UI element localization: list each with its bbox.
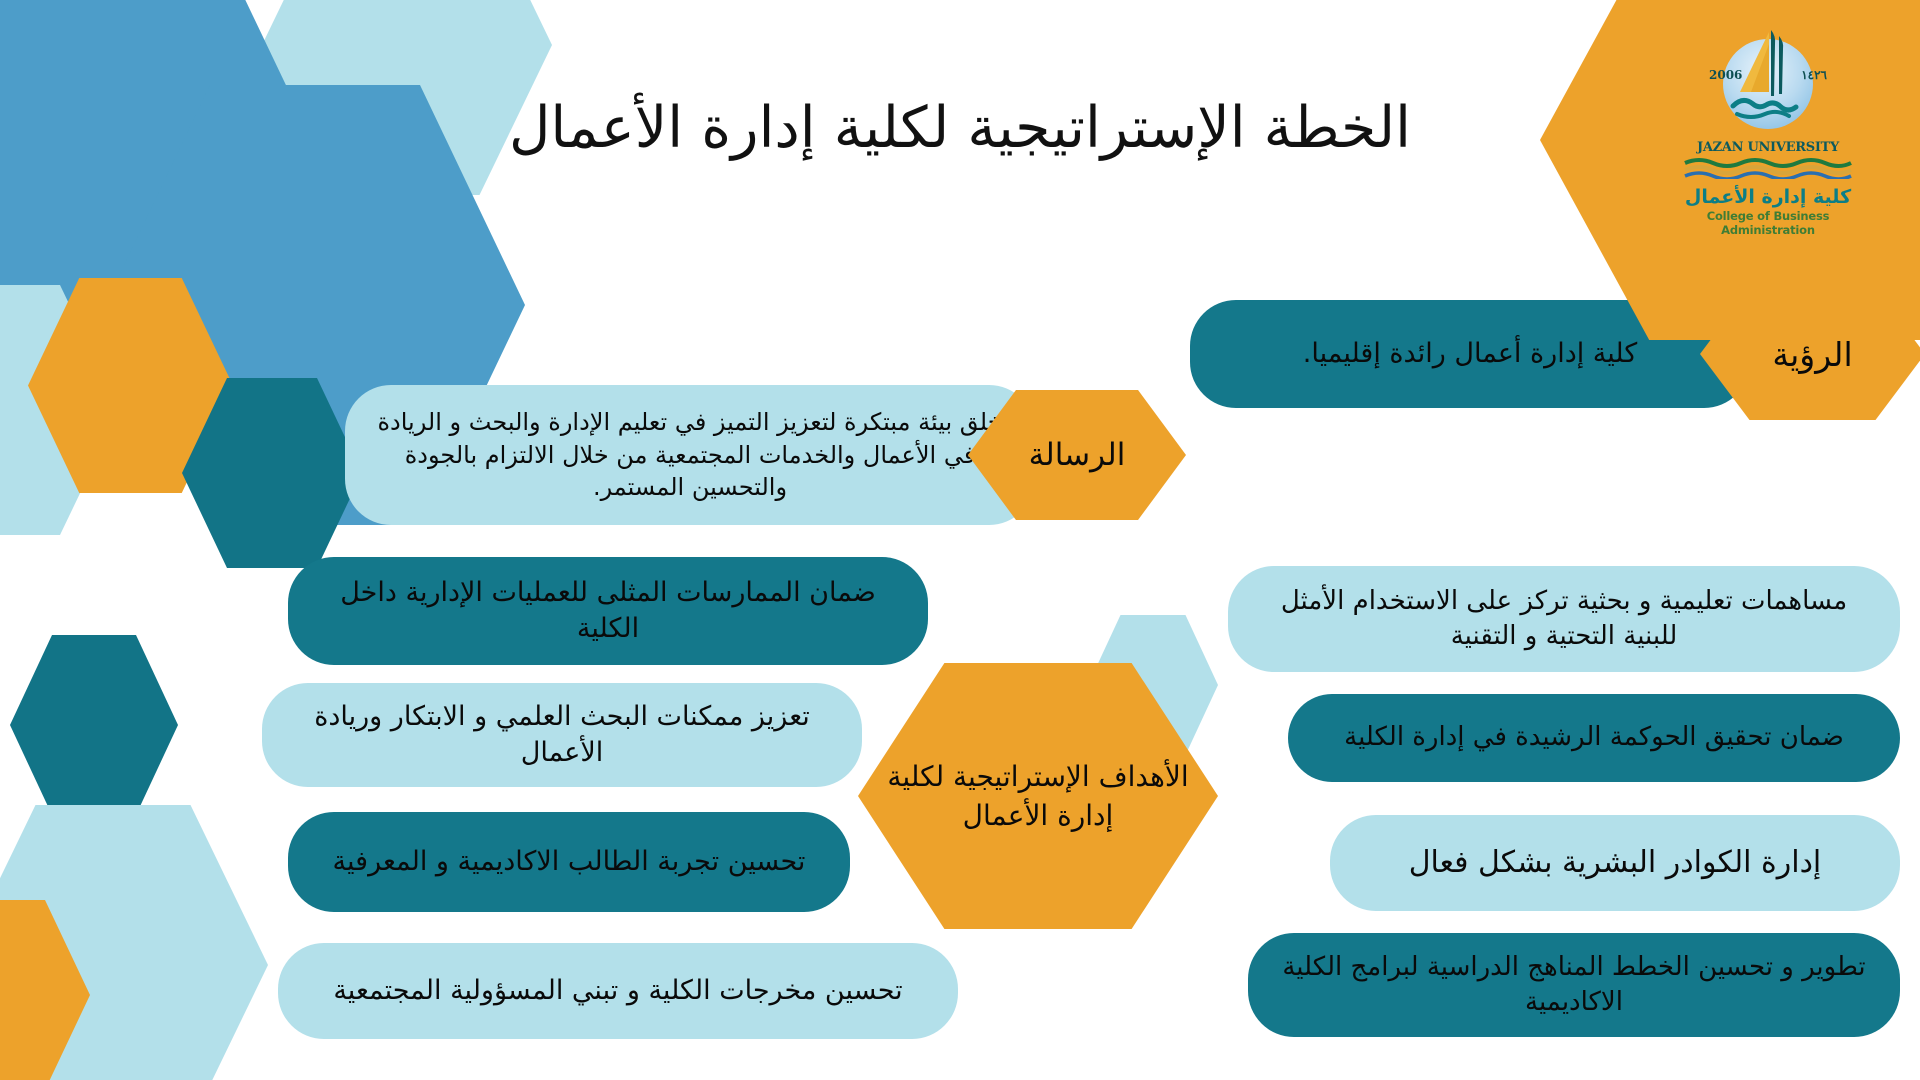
goal-right-2-text: ضمان تحقيق الحوكمة الرشيدة في إدارة الكل…: [1314, 720, 1874, 755]
strategic-goals-center-label: الأهداف الإستراتيجية لكلية إدارة الأعمال: [858, 757, 1218, 835]
vision-text: كلية إدارة أعمال رائدة إقليميا.: [1216, 336, 1724, 372]
mission-text: خلق بيئة مبتكرة لتعزيز التميز في تعليم ا…: [371, 406, 1009, 503]
slide-canvas: الخطة الإستراتيجية لكلية إدارة الأعمال: [0, 0, 1920, 1080]
decor-hexagon-teal-lower: [10, 635, 178, 815]
strategic-goals-center-hexagon: الأهداف الإستراتيجية لكلية إدارة الأعمال: [858, 663, 1218, 929]
goal-left-2: تعزيز ممكنات البحث العلمي و الابتكار وري…: [262, 683, 862, 787]
goal-left-4-text: تحسين مخرجات الكلية و تبني المسؤولية الم…: [304, 973, 932, 1009]
goal-right-1: مساهمات تعليمية و بحثية تركز على الاستخد…: [1228, 566, 1900, 672]
goal-right-3-text: إدارة الكوادر البشرية بشكل فعال: [1356, 843, 1874, 884]
goal-right-1-text: مساهمات تعليمية و بحثية تركز على الاستخد…: [1254, 584, 1874, 654]
vision-label: الرؤية: [1772, 335, 1852, 374]
goal-left-2-text: تعزيز ممكنات البحث العلمي و الابتكار وري…: [288, 699, 836, 772]
decor-hexagon-teal-mid: [182, 378, 362, 568]
goal-right-2: ضمان تحقيق الحوكمة الرشيدة في إدارة الكل…: [1288, 694, 1900, 782]
goal-left-1: ضمان الممارسات المثلى للعمليات الإدارية …: [288, 557, 928, 665]
goal-left-1-text: ضمان الممارسات المثلى للعمليات الإدارية …: [314, 575, 902, 648]
goal-left-3: تحسين تجربة الطالب الاكاديمية و المعرفية: [288, 812, 850, 912]
decor-hexagon-orange-left: [28, 278, 233, 493]
goal-right-3: إدارة الكوادر البشرية بشكل فعال: [1330, 815, 1900, 911]
logo-college-name-en: College of Business Administration: [1668, 209, 1868, 237]
goal-left-3-text: تحسين تجربة الطالب الاكاديمية و المعرفية: [314, 844, 824, 880]
decor-hexagon-orange-bottom: [0, 900, 90, 1080]
mission-pill: خلق بيئة مبتكرة لتعزيز التميز في تعليم ا…: [345, 385, 1035, 525]
mission-label: الرسالة: [1029, 437, 1126, 473]
page-title: الخطة الإستراتيجية لكلية إدارة الأعمال: [509, 93, 1411, 164]
goal-left-4: تحسين مخرجات الكلية و تبني المسؤولية الم…: [278, 943, 958, 1039]
decor-hexagon-light-left: [0, 285, 120, 535]
goal-right-4: تطوير و تحسين الخطط المناهج الدراسية لبر…: [1248, 933, 1900, 1037]
title-bar: الخطة الإستراتيجية لكلية إدارة الأعمال: [0, 55, 1920, 203]
goal-right-4-text: تطوير و تحسين الخطط المناهج الدراسية لبر…: [1274, 950, 1874, 1020]
decor-hexagon-light-bottom: [0, 805, 268, 1080]
